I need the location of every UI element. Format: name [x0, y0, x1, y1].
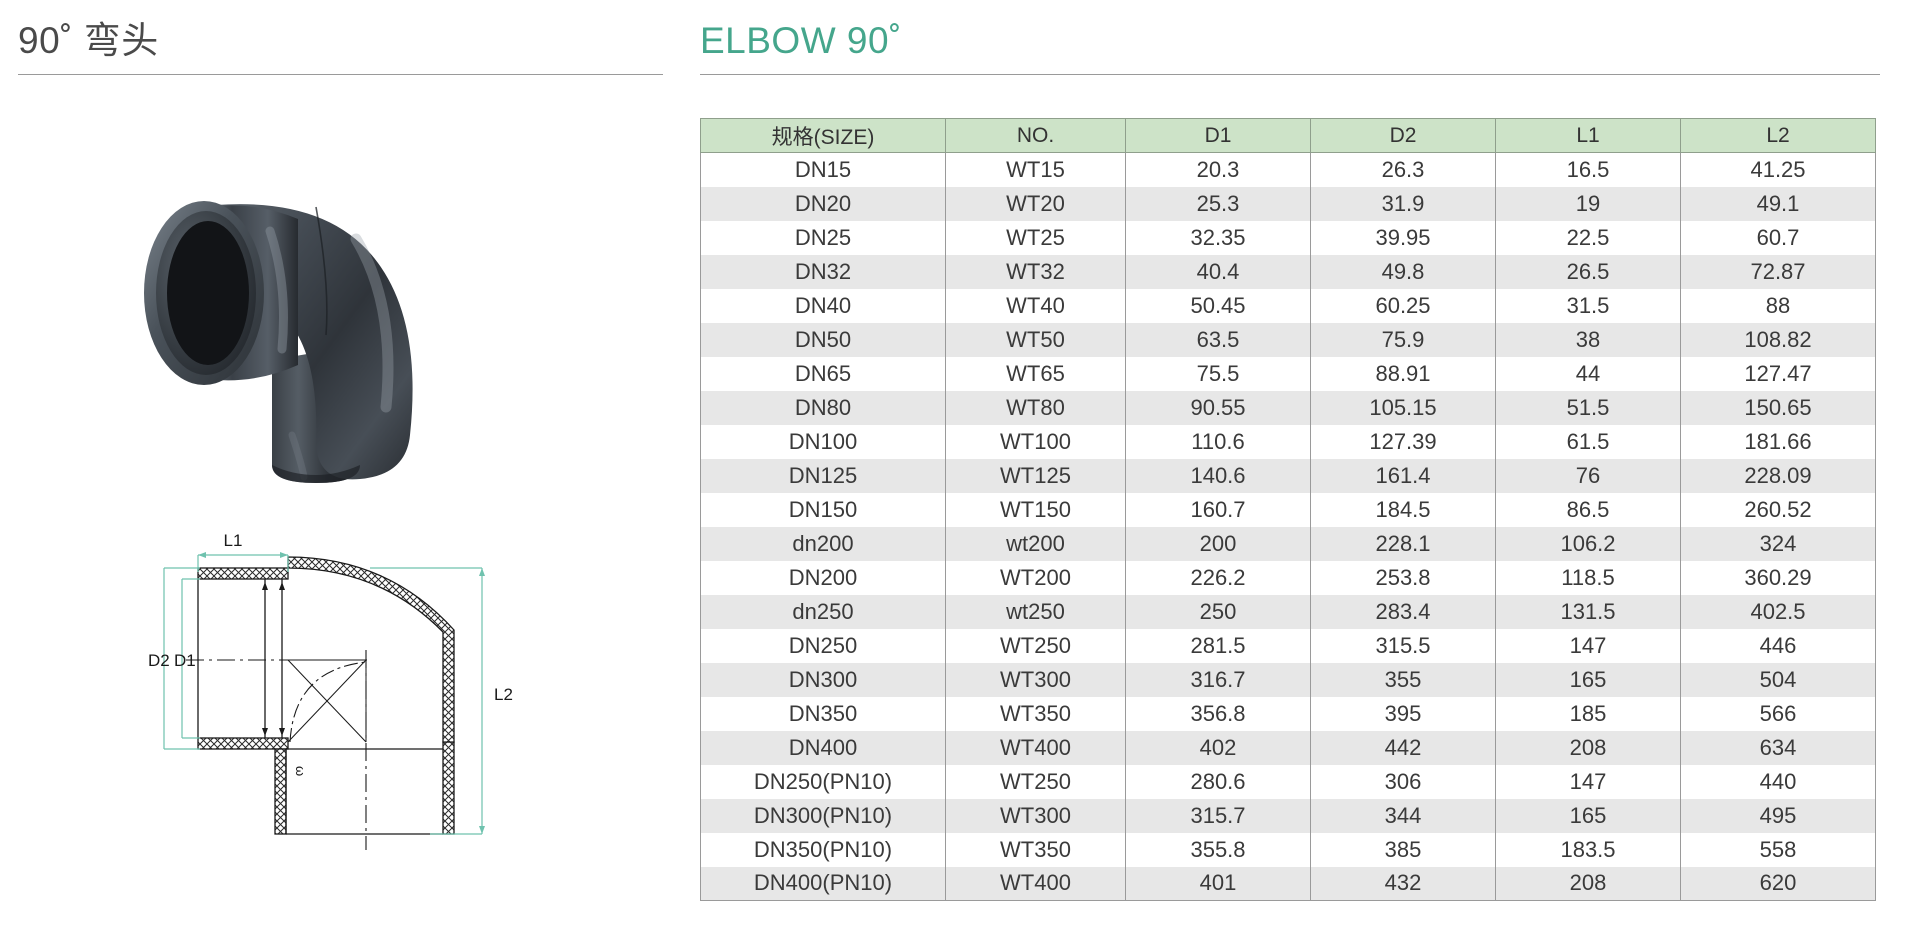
cell-no: WT250	[946, 765, 1126, 799]
cell-size: DN300(PN10)	[701, 799, 946, 833]
column-header-size: 规格(SIZE)	[701, 119, 946, 153]
cell-l2: 620	[1681, 867, 1876, 901]
page-title-en: ELBOW 90˚	[700, 18, 1900, 64]
cell-l2: 127.47	[1681, 357, 1876, 391]
cell-d1: 40.4	[1126, 255, 1311, 289]
column-header-d2: D2	[1311, 119, 1496, 153]
cell-d2: 161.4	[1311, 459, 1496, 493]
cell-l2: 49.1	[1681, 187, 1876, 221]
cell-size: DN400	[701, 731, 946, 765]
cell-l1: 51.5	[1496, 391, 1681, 425]
cell-size: DN150	[701, 493, 946, 527]
table-row: DN300(PN10)WT300315.7344165495	[701, 799, 1876, 833]
title-rule-right	[700, 74, 1880, 75]
cell-d2: 306	[1311, 765, 1496, 799]
cell-size: dn250	[701, 595, 946, 629]
cell-d1: 200	[1126, 527, 1311, 561]
cell-d1: 90.55	[1126, 391, 1311, 425]
cell-d1: 316.7	[1126, 663, 1311, 697]
cell-no: wt200	[946, 527, 1126, 561]
dimension-label-D2: D2	[148, 651, 170, 670]
cell-l1: 208	[1496, 731, 1681, 765]
cell-d2: 26.3	[1311, 153, 1496, 187]
table-row: DN150WT150160.7184.586.5260.52	[701, 493, 1876, 527]
cell-d2: 432	[1311, 867, 1496, 901]
cell-size: DN40	[701, 289, 946, 323]
table-row: DN65WT6575.588.9144127.47	[701, 357, 1876, 391]
cell-l1: 22.5	[1496, 221, 1681, 255]
cell-d2: 49.8	[1311, 255, 1496, 289]
cell-no: WT200	[946, 561, 1126, 595]
cell-d2: 88.91	[1311, 357, 1496, 391]
cell-no: WT15	[946, 153, 1126, 187]
spec-table-container: 规格(SIZE) NO. D1 D2 L1 L2 DN15WT1520.326.…	[700, 118, 1875, 901]
cell-no: WT100	[946, 425, 1126, 459]
cell-l2: 634	[1681, 731, 1876, 765]
elbow-90-cross-section-drawing: L1 L2 D2 D1 ω	[130, 520, 550, 860]
cell-d2: 315.5	[1311, 629, 1496, 663]
cell-size: DN350	[701, 697, 946, 731]
cell-l2: 360.29	[1681, 561, 1876, 595]
cell-l2: 495	[1681, 799, 1876, 833]
cell-no: WT20	[946, 187, 1126, 221]
title-rule-left	[18, 74, 663, 75]
cell-l2: 108.82	[1681, 323, 1876, 357]
cell-l1: 86.5	[1496, 493, 1681, 527]
cell-d1: 63.5	[1126, 323, 1311, 357]
cell-d2: 442	[1311, 731, 1496, 765]
cell-d2: 355	[1311, 663, 1496, 697]
cell-l2: 260.52	[1681, 493, 1876, 527]
table-row: DN350WT350356.8395185566	[701, 697, 1876, 731]
cell-d1: 355.8	[1126, 833, 1311, 867]
cell-l2: 181.66	[1681, 425, 1876, 459]
cell-size: DN250	[701, 629, 946, 663]
dimension-label-omega: ω	[293, 766, 308, 776]
cell-no: WT400	[946, 867, 1126, 901]
cell-d1: 250	[1126, 595, 1311, 629]
cell-size: DN50	[701, 323, 946, 357]
column-header-l1: L1	[1496, 119, 1681, 153]
table-row: DN200WT200226.2253.8118.5360.29	[701, 561, 1876, 595]
cell-l1: 26.5	[1496, 255, 1681, 289]
cell-l1: 147	[1496, 765, 1681, 799]
cell-d2: 395	[1311, 697, 1496, 731]
cell-no: WT400	[946, 731, 1126, 765]
cell-d1: 226.2	[1126, 561, 1311, 595]
cell-size: DN65	[701, 357, 946, 391]
table-row: DN32WT3240.449.826.572.87	[701, 255, 1876, 289]
cell-l1: 131.5	[1496, 595, 1681, 629]
cell-l2: 60.7	[1681, 221, 1876, 255]
table-row: DN100WT100110.6127.3961.5181.66	[701, 425, 1876, 459]
table-row: DN400(PN10)WT400401432208620	[701, 867, 1876, 901]
cell-l1: 19	[1496, 187, 1681, 221]
table-row: DN350(PN10)WT350355.8385183.5558	[701, 833, 1876, 867]
table-row: DN25WT2532.3539.9522.560.7	[701, 221, 1876, 255]
table-row: DN300WT300316.7355165504	[701, 663, 1876, 697]
cell-l1: 31.5	[1496, 289, 1681, 323]
cell-l1: 185	[1496, 697, 1681, 731]
cell-d1: 110.6	[1126, 425, 1311, 459]
cell-d1: 50.45	[1126, 289, 1311, 323]
cell-d1: 281.5	[1126, 629, 1311, 663]
cell-d1: 280.6	[1126, 765, 1311, 799]
cell-l2: 150.65	[1681, 391, 1876, 425]
cell-d1: 140.6	[1126, 459, 1311, 493]
cell-size: DN100	[701, 425, 946, 459]
table-row: DN20WT2025.331.91949.1	[701, 187, 1876, 221]
product-spec-sheet: 90˚ 弯头 ELBOW 90˚	[0, 0, 1920, 943]
cell-l1: 44	[1496, 357, 1681, 391]
cell-no: WT350	[946, 697, 1126, 731]
cell-l2: 72.87	[1681, 255, 1876, 289]
cell-no: WT250	[946, 629, 1126, 663]
table-row: dn200wt200200228.1106.2324	[701, 527, 1876, 561]
cell-size: DN200	[701, 561, 946, 595]
table-row: DN250(PN10)WT250280.6306147440	[701, 765, 1876, 799]
cell-d2: 60.25	[1311, 289, 1496, 323]
cell-l1: 106.2	[1496, 527, 1681, 561]
cell-l2: 566	[1681, 697, 1876, 731]
cell-d1: 401	[1126, 867, 1311, 901]
cell-size: DN125	[701, 459, 946, 493]
cell-d1: 315.7	[1126, 799, 1311, 833]
table-row: dn250wt250250283.4131.5402.5	[701, 595, 1876, 629]
cell-size: DN15	[701, 153, 946, 187]
table-row: DN15WT1520.326.316.541.25	[701, 153, 1876, 187]
pvc-elbow-90-photo	[120, 135, 540, 495]
page-title-cn: 90˚ 弯头	[18, 18, 678, 64]
cell-no: wt250	[946, 595, 1126, 629]
cell-l1: 208	[1496, 867, 1681, 901]
cell-d1: 75.5	[1126, 357, 1311, 391]
cell-size: DN20	[701, 187, 946, 221]
column-header-l2: L2	[1681, 119, 1876, 153]
table-row: DN400WT400402442208634	[701, 731, 1876, 765]
column-header-d1: D1	[1126, 119, 1311, 153]
cell-l2: 41.25	[1681, 153, 1876, 187]
cell-size: DN250(PN10)	[701, 765, 946, 799]
cell-d2: 127.39	[1311, 425, 1496, 459]
cell-d2: 184.5	[1311, 493, 1496, 527]
cell-size: dn200	[701, 527, 946, 561]
column-header-no: NO.	[946, 119, 1126, 153]
right-title-block: ELBOW 90˚	[700, 18, 1900, 75]
dimension-label-D1: D1	[174, 651, 196, 670]
cell-no: WT80	[946, 391, 1126, 425]
table-row: DN40WT4050.4560.2531.588	[701, 289, 1876, 323]
cell-size: DN300	[701, 663, 946, 697]
cell-d1: 160.7	[1126, 493, 1311, 527]
cell-d2: 75.9	[1311, 323, 1496, 357]
cell-l1: 118.5	[1496, 561, 1681, 595]
cell-no: WT65	[946, 357, 1126, 391]
cell-l2: 88	[1681, 289, 1876, 323]
cell-l1: 61.5	[1496, 425, 1681, 459]
cell-size: DN350(PN10)	[701, 833, 946, 867]
cell-no: WT350	[946, 833, 1126, 867]
cell-size: DN32	[701, 255, 946, 289]
cell-l2: 324	[1681, 527, 1876, 561]
cell-l1: 183.5	[1496, 833, 1681, 867]
cell-d2: 31.9	[1311, 187, 1496, 221]
cell-d1: 356.8	[1126, 697, 1311, 731]
cell-l1: 165	[1496, 663, 1681, 697]
left-title-block: 90˚ 弯头	[18, 18, 678, 75]
spec-table: 规格(SIZE) NO. D1 D2 L1 L2 DN15WT1520.326.…	[700, 118, 1876, 901]
dimension-label-L1: L1	[224, 531, 243, 550]
cell-size: DN25	[701, 221, 946, 255]
cell-d1: 402	[1126, 731, 1311, 765]
table-body: DN15WT1520.326.316.541.25DN20WT2025.331.…	[701, 153, 1876, 901]
dimension-label-L2: L2	[494, 685, 513, 704]
cell-d2: 105.15	[1311, 391, 1496, 425]
cell-l1: 76	[1496, 459, 1681, 493]
cell-l1: 147	[1496, 629, 1681, 663]
cell-l2: 446	[1681, 629, 1876, 663]
cell-no: WT300	[946, 663, 1126, 697]
cell-no: WT32	[946, 255, 1126, 289]
cell-l2: 440	[1681, 765, 1876, 799]
cell-d2: 385	[1311, 833, 1496, 867]
cell-no: WT25	[946, 221, 1126, 255]
cell-d2: 228.1	[1311, 527, 1496, 561]
cell-no: WT40	[946, 289, 1126, 323]
cell-no: WT300	[946, 799, 1126, 833]
table-row: DN50WT5063.575.938108.82	[701, 323, 1876, 357]
cell-l2: 402.5	[1681, 595, 1876, 629]
cell-size: DN80	[701, 391, 946, 425]
table-row: DN80WT8090.55105.1551.5150.65	[701, 391, 1876, 425]
cell-d1: 25.3	[1126, 187, 1311, 221]
cell-size: DN400(PN10)	[701, 867, 946, 901]
cell-no: WT125	[946, 459, 1126, 493]
cell-l1: 38	[1496, 323, 1681, 357]
cell-d2: 39.95	[1311, 221, 1496, 255]
table-row: DN125WT125140.6161.476228.09	[701, 459, 1876, 493]
table-header-row: 规格(SIZE) NO. D1 D2 L1 L2	[701, 119, 1876, 153]
cell-l2: 228.09	[1681, 459, 1876, 493]
cell-l2: 504	[1681, 663, 1876, 697]
cell-d1: 20.3	[1126, 153, 1311, 187]
table-row: DN250WT250281.5315.5147446	[701, 629, 1876, 663]
cell-d2: 283.4	[1311, 595, 1496, 629]
cell-l2: 558	[1681, 833, 1876, 867]
cell-d2: 253.8	[1311, 561, 1496, 595]
cell-no: WT150	[946, 493, 1126, 527]
cell-d2: 344	[1311, 799, 1496, 833]
cell-no: WT50	[946, 323, 1126, 357]
cell-l1: 16.5	[1496, 153, 1681, 187]
cell-l1: 165	[1496, 799, 1681, 833]
cell-d1: 32.35	[1126, 221, 1311, 255]
